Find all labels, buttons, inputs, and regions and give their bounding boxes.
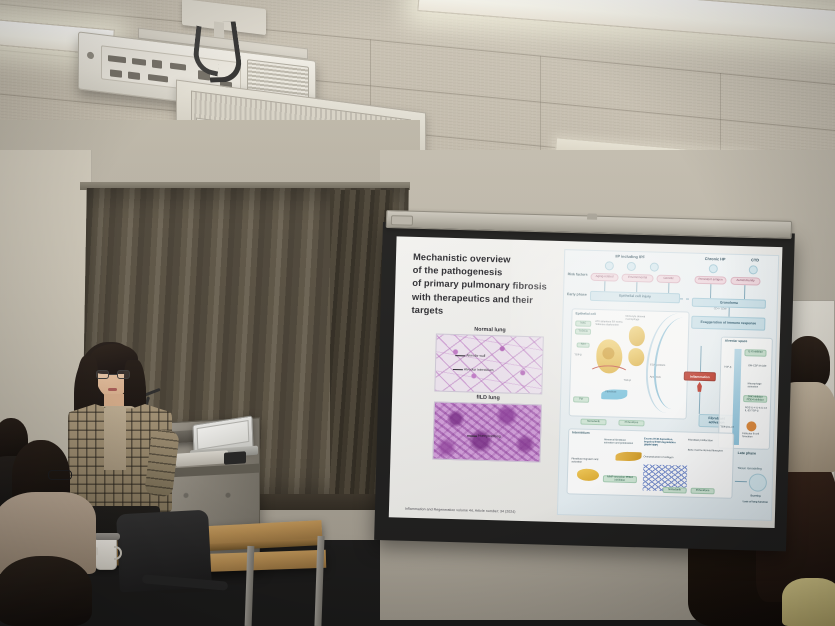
histology-annotation: Alveolar wall (466, 353, 485, 358)
slide-citation: Inflammation and Regeneration volume 44,… (405, 507, 516, 514)
granuloma-note: CD4+ CD8+ (714, 308, 728, 311)
diagram-column-header: Chronic HP (697, 257, 733, 262)
fibrocyte-cell (577, 469, 599, 482)
therapy-box: IL-6 inhibitor (744, 349, 766, 357)
diagram-annotation: GM-CSF M-CSF (748, 365, 770, 368)
diagram-annotation: Macrophage activation (747, 383, 769, 389)
diagram-annotation: TGF-β (624, 380, 631, 383)
connector (744, 285, 745, 299)
projection-screen: Mechanistic overview of the pathogenesis… (374, 222, 795, 551)
stage-box-tissue-remodeling: Tissue remodeling (737, 467, 762, 471)
antigen-icon (709, 264, 718, 273)
row-label-early-phase: Early phase (567, 292, 587, 297)
glasses-bridge (109, 374, 117, 375)
projector-port (108, 55, 126, 63)
desk-leg (245, 546, 255, 626)
laptop-screen (197, 420, 250, 450)
screen-housing-mount (587, 213, 597, 219)
histology-fild-lung: fILD lung Honeycombing (432, 393, 542, 462)
projector-port (152, 59, 162, 68)
therapy-box: NAC (575, 320, 591, 326)
row-label-risk-factors: Risk factors (568, 272, 588, 277)
slide-title: Mechanistic overview of the pathogenesis… (411, 251, 563, 321)
aging-icon (605, 261, 614, 270)
autoimmunity-icon (749, 265, 758, 274)
environment-icon (627, 262, 636, 271)
lecture-hall-photo: ◦◦◦ Mechanistic overview of the pathogen… (0, 0, 835, 626)
diagram-annotation: ROS IL-4 IL-6 IL-13 IL-33 TGF-β (745, 407, 769, 413)
presenter-mouth (108, 388, 117, 391)
gene-icon (650, 262, 659, 271)
pathogenesis-diagram: IIP including IPF Chronic HP CTD Risk fa… (557, 249, 779, 521)
diagram-annotation: Fibroblast (605, 391, 616, 394)
therapy-box: JAK inhibitor PDE4 inhibitor (743, 395, 767, 403)
connector (668, 283, 669, 293)
row-label-late-phase: Late phase (738, 451, 756, 456)
diagram-annotation: TGF-β (724, 367, 731, 370)
connector (728, 308, 729, 317)
projector-port (170, 63, 186, 71)
projector-control-dial[interactable] (87, 51, 94, 59)
risk-pill-environmental: Environmental (621, 274, 653, 283)
outcome-scarring: Scarring (740, 495, 770, 499)
audience-head-foreground (0, 556, 92, 626)
histology-normal-lung: Normal lung Alveolar wall Alveolar inter… (434, 326, 544, 395)
podium-device (224, 451, 246, 465)
therapy-box: Nintedanib (580, 419, 606, 426)
screen-housing-cap (391, 215, 413, 226)
diagram-annotation: TGF-β (574, 354, 581, 357)
diagram-column-header: IIP including IPF (595, 254, 665, 260)
therapy-box: TUDCA (575, 328, 591, 334)
therapy-box: MMP secretion PDE4 inhibition (603, 475, 637, 483)
screen-surface: Mechanistic overview of the pathogenesis… (389, 236, 783, 528)
glasses-lens (117, 370, 130, 379)
audience-glasses (48, 470, 72, 480)
inflammation-badge: Inflammation (684, 371, 716, 381)
therapy-box: Nintedanib (663, 487, 687, 494)
therapy-box: Pirfenidone (618, 420, 644, 427)
projector-port (128, 72, 140, 80)
presentation-slide: Mechanistic overview of the pathogenesis… (389, 236, 783, 528)
audience-desk (196, 550, 327, 573)
risk-pill-autoimmunity: Autoimmunity (730, 277, 760, 286)
projector-port (110, 69, 122, 77)
panel-label-alveolar-space: Alveolar space (725, 339, 748, 344)
diagram-annotation: ATII apoptosis ER stress Telomere dysfun… (595, 321, 629, 327)
histology-annotation: Alveolar interstitium (464, 367, 494, 372)
tumbler-lid (94, 533, 120, 540)
panel-label-epithelial-cell: Epithelial cell (575, 311, 595, 316)
diagram-column-header: CTD (741, 258, 769, 263)
outcome-loss-of-function: Loss of lung function (736, 501, 774, 505)
diagram-annotation: Abnormal fibroblast activation and proli… (604, 439, 636, 445)
therapy-box: Pirf (573, 396, 589, 402)
histology-annotation: Honeycombing (478, 434, 501, 439)
connector (735, 481, 747, 482)
therapy-box: Pirfenidone (691, 488, 715, 495)
connector (604, 281, 605, 291)
diagram-annotation: Follicular B cell formation (742, 433, 768, 439)
projector-port (132, 58, 146, 66)
slide-title-line: targets (411, 304, 561, 321)
diagram-annotation: Monocyte derived macrophage (625, 316, 653, 322)
diagram-annotation: TGF-β IL-17 (720, 427, 734, 430)
connector (710, 284, 711, 298)
audience-body (782, 578, 835, 626)
lung-icon (749, 473, 767, 491)
histology-image-fild: Honeycombing (432, 401, 542, 462)
presenter-glasses (96, 370, 130, 379)
diagram-annotation: Fibroblast migration and activation (571, 458, 599, 464)
histology-image-normal: Alveolar wall Alveolar interstitium (434, 334, 544, 395)
diagram-annotation: Excess ECM deposition, Impaired ECM degr… (644, 438, 682, 447)
panel-label-interstitium: Interstitium (572, 430, 589, 434)
travel-tumbler (95, 536, 117, 570)
stage-box-epithelial-injury: Epithelial cell injury (590, 291, 680, 304)
myofibroblast-cell (615, 452, 641, 462)
presenter-jacket-opening (104, 408, 126, 470)
glasses-lens (96, 370, 109, 379)
therapy-box: Nint (577, 342, 590, 347)
projector-port (148, 74, 168, 82)
connector-dashed (680, 298, 692, 299)
connector (636, 282, 637, 292)
